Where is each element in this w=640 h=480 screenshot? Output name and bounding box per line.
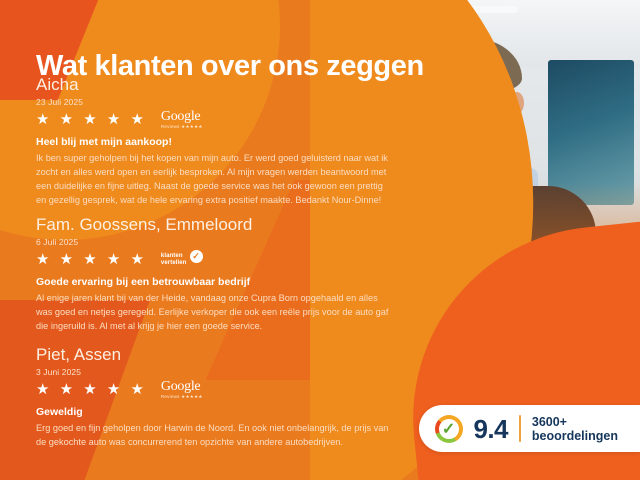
klantenvertellen-wordmark: klanten vertellen xyxy=(161,253,187,266)
reviewer-name: Fam. Goossens, Emmeloord xyxy=(36,216,400,235)
review-title: Heel blij met mijn aankoop! xyxy=(36,136,400,148)
google-reviews-subtext: Reviews ★★★★★ xyxy=(161,395,203,400)
check-circle-icon: ✓ xyxy=(190,250,203,263)
klantenvertellen-line2: vertellen xyxy=(161,260,187,266)
klantenvertellen-logo: klanten vertellen ✓ xyxy=(161,250,203,270)
review-card: Aicha 23 Juli 2025 ★ ★ ★ ★ ★ Google Revi… xyxy=(36,76,400,208)
content-column: Wat klanten over ons zeggen Aicha 23 Jul… xyxy=(0,0,420,480)
star-rating-icon: ★ ★ ★ ★ ★ xyxy=(36,252,147,267)
review-meta: ★ ★ ★ ★ ★ Google Reviews ★★★★★ xyxy=(36,111,400,129)
google-reviews-logo: Google Reviews ★★★★★ xyxy=(161,380,203,400)
rating-count-label: beoordelingen xyxy=(532,429,618,443)
review-meta: ★ ★ ★ ★ ★ klanten vertellen ✓ xyxy=(36,251,400,269)
rating-divider xyxy=(519,415,521,442)
star-rating-icon: ★ ★ ★ ★ ★ xyxy=(36,382,147,397)
reviewer-name: Aicha xyxy=(36,76,400,95)
star-rating-icon: ★ ★ ★ ★ ★ xyxy=(36,112,147,127)
overall-rating-badge[interactable]: ✓ 9.4 3600+ beoordelingen xyxy=(419,405,640,452)
google-reviews-subtext: Reviews ★★★★★ xyxy=(161,125,203,130)
review-body: Erg goed en fijn geholpen door Harwin de… xyxy=(36,421,394,450)
rating-score: 9.4 xyxy=(474,416,508,442)
review-card: Piet, Assen 3 Juni 2025 ★ ★ ★ ★ ★ Google… xyxy=(36,346,400,449)
review-title: Goede ervaring bij een betrouwbaar bedri… xyxy=(36,276,400,288)
review-date: 23 Juli 2025 xyxy=(36,97,400,107)
rating-count-block: 3600+ beoordelingen xyxy=(532,415,618,443)
review-meta: ★ ★ ★ ★ ★ Google Reviews ★★★★★ xyxy=(36,381,400,399)
rating-count: 3600+ xyxy=(532,415,618,429)
google-reviews-logo: Google Reviews ★★★★★ xyxy=(161,110,203,130)
customer-reviews-banner: VDH Wat klanten over ons zeggen Aicha 23… xyxy=(0,0,640,480)
checkmark-icon: ✓ xyxy=(435,415,463,443)
review-body: Ik ben super geholpen bij het kopen van … xyxy=(36,151,394,208)
review-card: Fam. Goossens, Emmeloord 6 Juli 2025 ★ ★… xyxy=(36,216,400,333)
review-body: Al enige jaren klant bij van der Heide, … xyxy=(36,291,394,334)
review-date: 3 Juni 2025 xyxy=(36,367,400,377)
kiyoh-seal-icon: ✓ xyxy=(435,415,463,443)
reviewer-name: Piet, Assen xyxy=(36,346,400,365)
google-wordmark: Google xyxy=(161,380,203,394)
google-wordmark: Google xyxy=(161,110,203,124)
review-date: 6 Juli 2025 xyxy=(36,237,400,247)
review-title: Geweldig xyxy=(36,406,400,418)
